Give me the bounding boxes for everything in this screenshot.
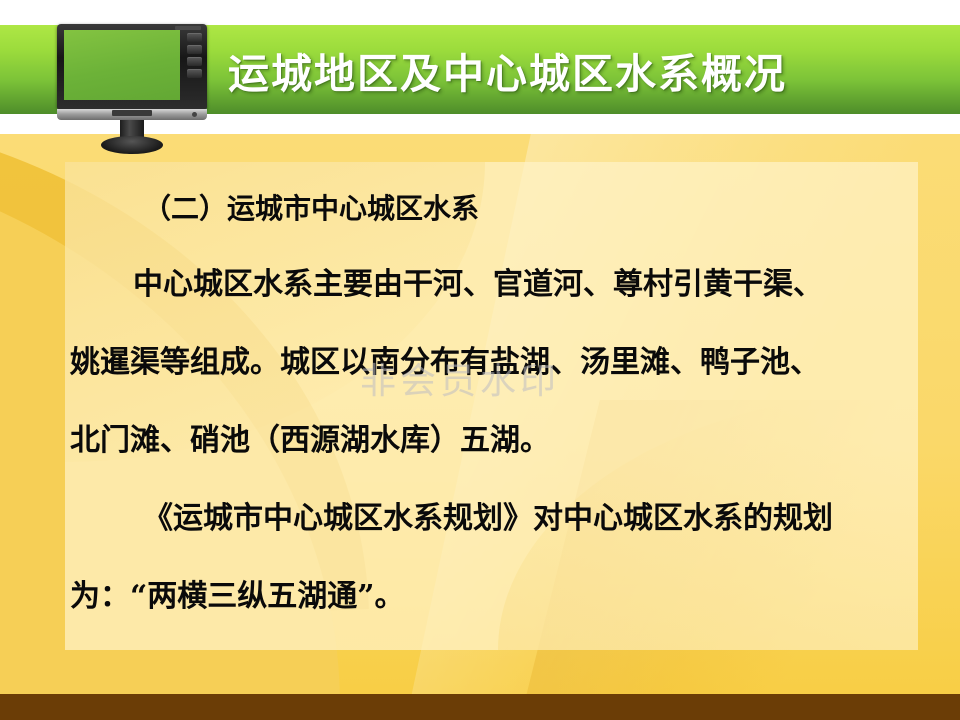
content-heading: （二）运城市中心城区水系 — [143, 170, 479, 248]
monitor-brand-label — [112, 110, 152, 116]
monitor-power-led — [192, 112, 197, 117]
content-panel: （二）运城市中心城区水系 中心城区水系主要由干河、官道河、尊村引黄干渠、 姚暹渠… — [65, 162, 918, 650]
content-line-4: 《运城市中心城区水系规划》对中心城区水系的规划 — [143, 480, 833, 558]
monitor-screen — [64, 30, 180, 100]
content-line-1: 中心城区水系主要由干河、官道河、尊村引黄干渠、 — [133, 246, 823, 324]
content-line-2: 姚暹渠等组成。城区以南分布有盐湖、汤里滩、鸭子池、 — [70, 324, 820, 402]
content-line-3: 北门滩、硝池（西源湖水库）五湖。 — [70, 402, 550, 480]
computer-monitor-icon — [57, 24, 207, 144]
presentation-slide: 运城地区及中心城区水系概况 （二）运城市中心城区水系 中心城区水系主要由干河、官… — [0, 0, 960, 720]
slide-bottom-bar — [0, 694, 960, 720]
body-text-block: （二）运城市中心城区水系 中心城区水系主要由干河、官道河、尊村引黄干渠、 姚暹渠… — [65, 162, 918, 650]
monitor-stand-base — [101, 136, 163, 154]
page-title: 运城地区及中心城区水系概况 — [228, 34, 928, 106]
content-line-5: 为：“两横三纵五湖通”。 — [70, 558, 405, 636]
monitor-side-buttons — [185, 33, 203, 95]
monitor-bezel — [57, 24, 207, 109]
